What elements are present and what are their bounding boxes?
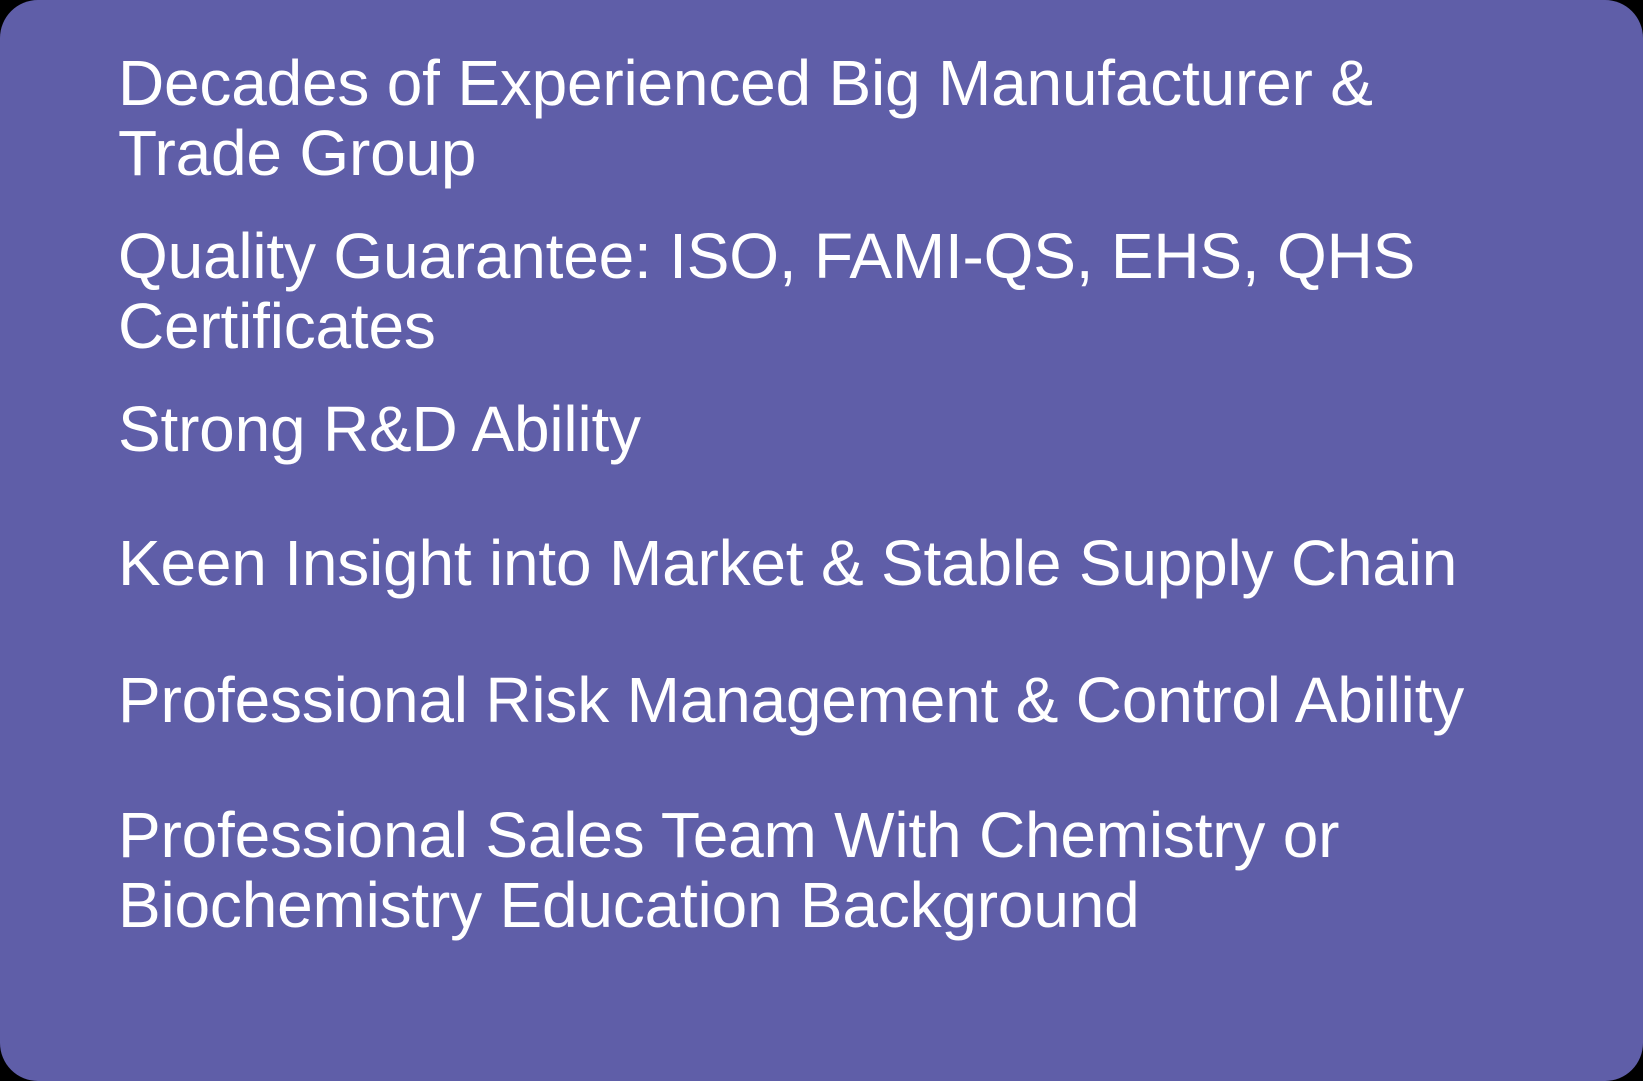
list-item: Keen Insight into Market & Stable Supply… — [118, 528, 1518, 598]
list-item: Decades of Experienced Big Manufacturer … — [118, 48, 1518, 188]
list-item: Professional Risk Management & Control A… — [118, 665, 1518, 735]
advantages-list: Decades of Experienced Big Manufacturer … — [118, 48, 1518, 940]
advantages-card: Decades of Experienced Big Manufacturer … — [0, 0, 1643, 1081]
list-item: Strong R&D Ability — [118, 394, 1518, 464]
list-item: Quality Guarantee: ISO, FAMI-QS, EHS, QH… — [118, 221, 1518, 361]
list-item: Professional Sales Team With Chemistry o… — [118, 800, 1518, 940]
